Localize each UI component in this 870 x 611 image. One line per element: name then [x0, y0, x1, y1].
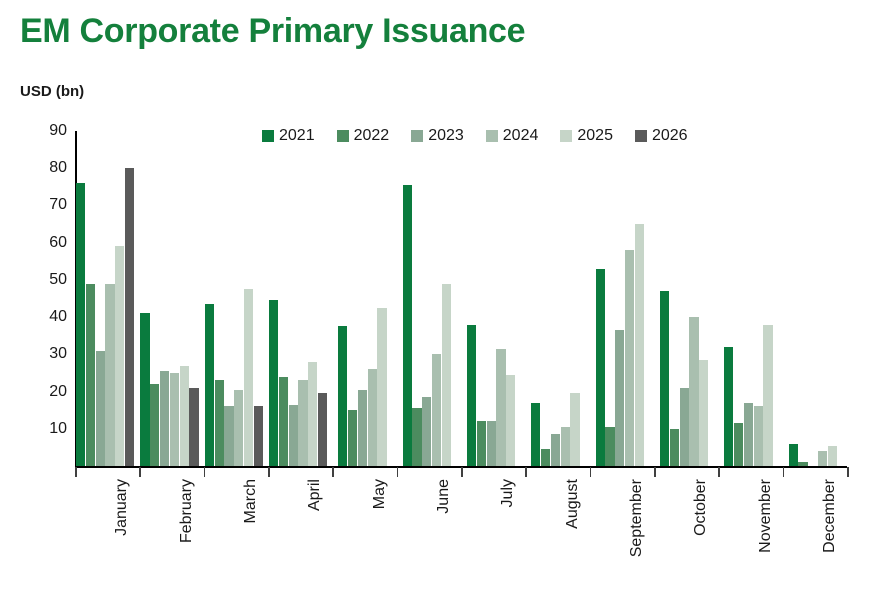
bar-october-2021[interactable] — [660, 291, 669, 466]
chart-page: EM Corporate Primary Issuance USD (bn) 2… — [0, 0, 870, 611]
x-axis-tick — [718, 467, 720, 477]
x-axis-tick — [332, 467, 334, 477]
bar-june-2021[interactable] — [403, 185, 412, 466]
x-axis-label-august: August — [564, 479, 582, 529]
bar-may-2022[interactable] — [348, 410, 357, 466]
bar-group-september — [596, 131, 644, 466]
bar-august-2023[interactable] — [551, 434, 560, 466]
bar-group-december — [789, 131, 837, 466]
bar-group-february — [140, 131, 198, 466]
bar-january-2025[interactable] — [115, 246, 124, 466]
bar-april-2025[interactable] — [308, 362, 317, 466]
bar-april-2024[interactable] — [298, 380, 307, 466]
x-axis-label-april: April — [306, 479, 324, 511]
bar-november-2021[interactable] — [724, 347, 733, 466]
bar-may-2021[interactable] — [338, 326, 347, 466]
x-axis-tick — [783, 467, 785, 477]
bar-group-may — [338, 131, 386, 466]
page-title: EM Corporate Primary Issuance — [20, 12, 525, 51]
bar-february-2024[interactable] — [170, 373, 179, 466]
bar-group-march — [205, 131, 263, 466]
bar-august-2025[interactable] — [570, 393, 579, 466]
bar-november-2022[interactable] — [734, 423, 743, 466]
x-axis-label-june: June — [435, 479, 453, 514]
bar-march-2024[interactable] — [234, 390, 243, 466]
x-axis-tick — [75, 467, 77, 477]
bar-august-2022[interactable] — [541, 449, 550, 466]
bar-march-2022[interactable] — [215, 380, 224, 466]
bar-group-november — [724, 131, 772, 466]
bar-july-2021[interactable] — [467, 325, 476, 466]
y-axis-unit-label: USD (bn) — [20, 83, 84, 100]
bar-november-2023[interactable] — [744, 403, 753, 466]
bar-group-october — [660, 131, 708, 466]
bar-group-august — [531, 131, 579, 466]
bar-june-2025[interactable] — [442, 284, 451, 466]
bar-july-2025[interactable] — [506, 375, 515, 466]
bar-january-2021[interactable] — [76, 183, 85, 466]
bar-november-2024[interactable] — [754, 406, 763, 466]
bar-may-2023[interactable] — [358, 390, 367, 466]
x-axis-tick — [204, 467, 206, 477]
x-axis-tick — [654, 467, 656, 477]
x-axis-tick — [397, 467, 399, 477]
bar-october-2024[interactable] — [689, 317, 698, 466]
y-axis-tick-label: 90 — [17, 122, 67, 140]
y-axis-tick-label: 10 — [17, 420, 67, 438]
bar-september-2022[interactable] — [605, 427, 614, 466]
bar-april-2023[interactable] — [289, 405, 298, 466]
bar-may-2025[interactable] — [377, 308, 386, 466]
bar-february-2021[interactable] — [140, 313, 149, 466]
bar-june-2022[interactable] — [412, 408, 421, 466]
bar-september-2025[interactable] — [635, 224, 644, 466]
bar-november-2025[interactable] — [763, 325, 772, 466]
bar-april-2022[interactable] — [279, 377, 288, 466]
x-axis-label-february: February — [178, 479, 196, 543]
x-axis-label-january: January — [113, 479, 131, 536]
bar-group-june — [403, 131, 451, 466]
bars-layer — [75, 131, 847, 467]
x-axis-tick — [847, 467, 849, 477]
bar-september-2024[interactable] — [625, 250, 634, 466]
bar-march-2023[interactable] — [224, 406, 233, 466]
bar-june-2023[interactable] — [422, 397, 431, 466]
bar-january-2024[interactable] — [105, 284, 114, 466]
bar-july-2023[interactable] — [487, 421, 496, 466]
bar-february-2022[interactable] — [150, 384, 159, 466]
x-axis-label-may: May — [371, 479, 389, 509]
y-axis-tick-label: 70 — [17, 196, 67, 214]
y-axis-tick-label: 60 — [17, 234, 67, 252]
bar-march-2026[interactable] — [254, 406, 263, 466]
x-axis-label-september: September — [628, 479, 646, 557]
bar-february-2023[interactable] — [160, 371, 169, 466]
bar-july-2022[interactable] — [477, 421, 486, 466]
bar-october-2023[interactable] — [680, 388, 689, 466]
x-axis-label-december: December — [821, 479, 839, 553]
x-axis-label-july: July — [499, 479, 517, 507]
bar-january-2023[interactable] — [96, 351, 105, 466]
bar-january-2026[interactable] — [125, 168, 134, 466]
bar-december-2025[interactable] — [828, 446, 837, 466]
x-axis-label-november: November — [757, 479, 775, 553]
x-axis-tick — [525, 467, 527, 477]
bar-october-2022[interactable] — [670, 429, 679, 466]
bar-may-2024[interactable] — [368, 369, 377, 466]
y-axis-tick-label: 30 — [17, 345, 67, 363]
bar-december-2024[interactable] — [818, 451, 827, 466]
y-axis-tick-label: 40 — [17, 308, 67, 326]
y-axis-tick-label: 80 — [17, 159, 67, 177]
bar-group-july — [467, 131, 515, 466]
bar-february-2026[interactable] — [189, 388, 198, 466]
x-axis-tick — [268, 467, 270, 477]
bar-march-2021[interactable] — [205, 304, 214, 466]
bar-group-april — [269, 131, 327, 466]
bar-april-2026[interactable] — [318, 393, 327, 466]
bar-june-2024[interactable] — [432, 354, 441, 466]
bar-february-2025[interactable] — [180, 366, 189, 467]
x-axis-label-march: March — [242, 479, 260, 523]
bar-march-2025[interactable] — [244, 289, 253, 466]
x-axis-tick — [139, 467, 141, 477]
plot-area: JanuaryFebruaryMarchAprilMayJuneJulyAugu… — [75, 131, 847, 467]
x-axis-tick — [590, 467, 592, 477]
bar-january-2022[interactable] — [86, 284, 95, 466]
bar-september-2023[interactable] — [615, 330, 624, 466]
bar-october-2025[interactable] — [699, 360, 708, 466]
bar-august-2024[interactable] — [561, 427, 570, 466]
bar-group-january — [76, 131, 134, 466]
bar-december-2021[interactable] — [789, 444, 798, 466]
bar-august-2021[interactable] — [531, 403, 540, 466]
x-axis-label-october: October — [692, 479, 710, 536]
bar-september-2021[interactable] — [596, 269, 605, 466]
y-axis-tick-label: 50 — [17, 271, 67, 289]
bar-december-2022[interactable] — [798, 462, 807, 466]
bar-july-2024[interactable] — [496, 349, 505, 466]
x-axis-tick — [461, 467, 463, 477]
bar-april-2021[interactable] — [269, 300, 278, 466]
y-axis-tick-label: 20 — [17, 383, 67, 401]
